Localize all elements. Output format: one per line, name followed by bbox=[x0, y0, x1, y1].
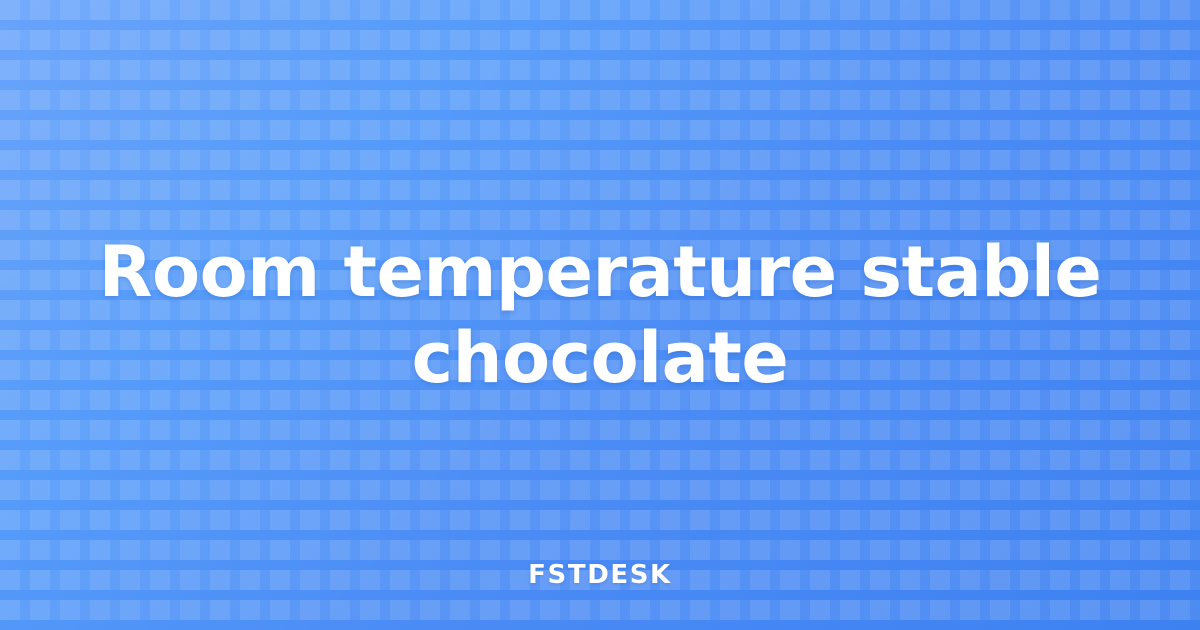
social-share-card: Room temperature stable chocolate FSTDES… bbox=[0, 0, 1200, 630]
card-content: Room temperature stable chocolate bbox=[0, 0, 1200, 630]
brand-footer: FSTDESK bbox=[0, 560, 1200, 590]
brand-wordmark: FSTDESK bbox=[528, 560, 672, 590]
page-title: Room temperature stable chocolate bbox=[64, 229, 1136, 401]
